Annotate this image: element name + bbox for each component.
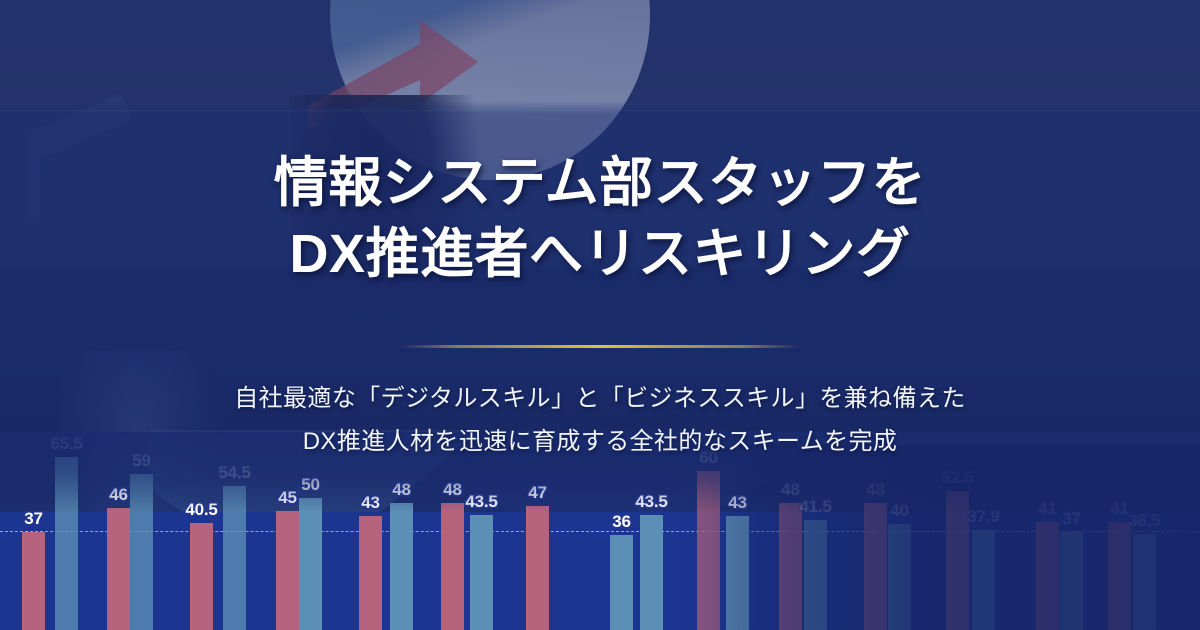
hero-banner: 3765.5465940.554.5455043484843.5473643.5… bbox=[0, 0, 1200, 630]
gold-divider bbox=[400, 345, 800, 348]
page-title-line-2: DX推進者へリスキリング bbox=[0, 219, 1200, 290]
page-title: 情報システム部スタッフを DX推進者へリスキリング bbox=[0, 148, 1200, 291]
page-title-line-1: 情報システム部スタッフを bbox=[0, 148, 1200, 219]
page-subtitle: 自社最適な「デジタルスキル」と「ビジネススキル」を兼ね備えた DX推進人材を迅速… bbox=[0, 378, 1200, 463]
hero-content: 情報システム部スタッフを DX推進者へリスキリング 自社最適な「デジタルスキル」… bbox=[0, 0, 1200, 630]
page-subtitle-line-2: DX推進人材を迅速に育成する全社的なスキームを完成 bbox=[0, 421, 1200, 464]
page-subtitle-line-1: 自社最適な「デジタルスキル」と「ビジネススキル」を兼ね備えた bbox=[0, 378, 1200, 421]
